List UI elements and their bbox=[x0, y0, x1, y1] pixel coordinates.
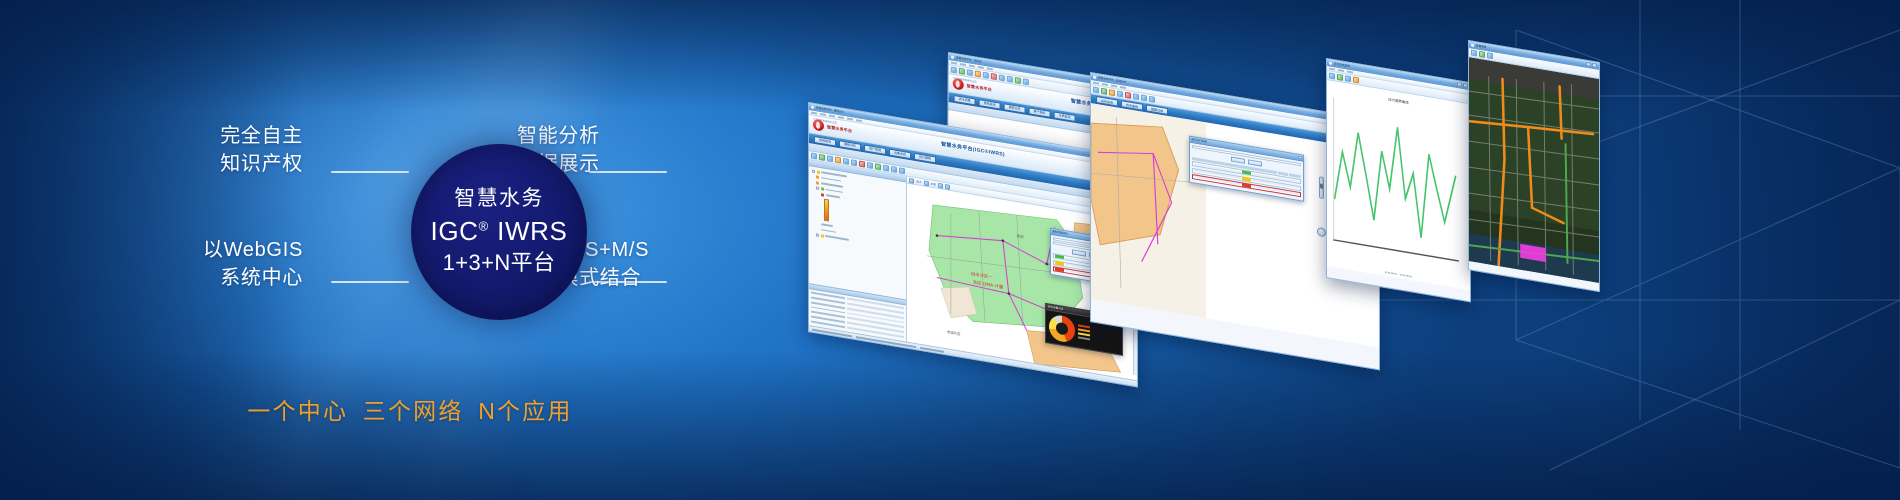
pan-navigation-pad[interactable] bbox=[1317, 227, 1326, 238]
window-icon bbox=[1471, 43, 1474, 47]
layer-panel[interactable] bbox=[809, 160, 907, 343]
central-hub-circle: 智慧水务 IGC®IWRS 1+3+N平台 bbox=[411, 144, 587, 320]
hub-brand-iwrs: IWRS bbox=[497, 216, 567, 246]
pipe-diameter-legend bbox=[824, 199, 829, 222]
concept-diagram: 完全自主 知识产权 以WebGIS 系统中心 智能分析 数据展示 C/S+B/S… bbox=[0, 0, 820, 440]
connector-line-top-left bbox=[331, 171, 409, 173]
satellite-canvas bbox=[1469, 57, 1599, 283]
brand-name: 智慧水务平台 bbox=[827, 124, 852, 134]
donut-chart-icon bbox=[1049, 313, 1075, 343]
layer-tree[interactable] bbox=[809, 166, 906, 299]
satellite-view[interactable] bbox=[1469, 57, 1599, 283]
refresh-button[interactable] bbox=[1231, 156, 1245, 163]
connector-line-top-right bbox=[589, 171, 667, 173]
map-tool-label[interactable]: 放大 bbox=[916, 179, 921, 184]
chart-title: 压力趋势曲线 bbox=[1388, 96, 1408, 104]
chart-series-line bbox=[1335, 117, 1456, 244]
app-window-chart[interactable]: 压力历史曲线 压力趋势曲线 2015-08-01 ~ 2015-08-31 bbox=[1326, 58, 1471, 302]
window-icon bbox=[1093, 75, 1096, 79]
banner-root: 智慧水务平台 - 主控台 江苏省某市自来水公司 智慧水务平台 智慧水务平台(IG… bbox=[0, 0, 1900, 500]
tagline-part-2: 三个网络 bbox=[363, 398, 464, 424]
donut-legend bbox=[1078, 324, 1090, 340]
registered-trademark-icon: ® bbox=[479, 219, 489, 234]
window-controls[interactable] bbox=[1457, 82, 1468, 88]
feature-label-line1: 智能分析 bbox=[517, 122, 600, 150]
hub-brand-line: IGC®IWRS bbox=[431, 214, 568, 249]
chart-plot-area: 压力趋势曲线 2015-08-01 ~ 2015-08-31 bbox=[1327, 80, 1470, 290]
connector-line-bottom-left bbox=[331, 281, 409, 283]
query-button[interactable] bbox=[1072, 250, 1086, 257]
dialog-body bbox=[1190, 142, 1303, 201]
feature-label-top-left: 完全自主 知识产权 bbox=[220, 122, 303, 179]
screenshot-cluster: 智慧水务平台 - 主控台 江苏省某市自来水公司 智慧水务平台 智慧水务平台(IG… bbox=[790, 40, 1900, 380]
map-tool-label[interactable]: 全图 bbox=[931, 182, 936, 187]
dialog-close-icon[interactable] bbox=[1298, 155, 1302, 159]
brand-name: 智慧水务平台 bbox=[967, 83, 992, 93]
zoom-slider[interactable] bbox=[1319, 176, 1324, 199]
chart-xlabel: 2015-08-01 ~ 2015-08-31 bbox=[1385, 271, 1412, 279]
hub-platform-line: 1+3+N平台 bbox=[443, 249, 556, 278]
line-chart-svg bbox=[1333, 97, 1459, 263]
hub-brand-igc: IGC bbox=[431, 216, 479, 246]
feature-label-bottom-left: 以WebGIS 系统中心 bbox=[203, 236, 303, 293]
window-icon bbox=[951, 55, 954, 58]
app-window-satellite-map[interactable]: 影像底图 bbox=[1468, 40, 1600, 292]
tagline: 一个中心 三个网络 N个应用 bbox=[0, 392, 820, 426]
window-icon bbox=[1329, 61, 1332, 65]
feature-label-line2: 系统中心 bbox=[203, 264, 303, 292]
tagline-part-1: 一个中心 bbox=[247, 398, 348, 424]
tagline-part-3: N个应用 bbox=[478, 398, 572, 424]
feature-label-line2: 知识产权 bbox=[220, 150, 303, 178]
feature-label-line1: 完全自主 bbox=[220, 122, 303, 150]
feature-label-line1: 以WebGIS bbox=[203, 236, 303, 264]
export-button[interactable] bbox=[1248, 159, 1262, 166]
window-controls[interactable] bbox=[1586, 62, 1597, 68]
titlebar-text: 影像底图 bbox=[1476, 43, 1486, 49]
hub-product-name: 智慧水务 bbox=[454, 186, 544, 213]
